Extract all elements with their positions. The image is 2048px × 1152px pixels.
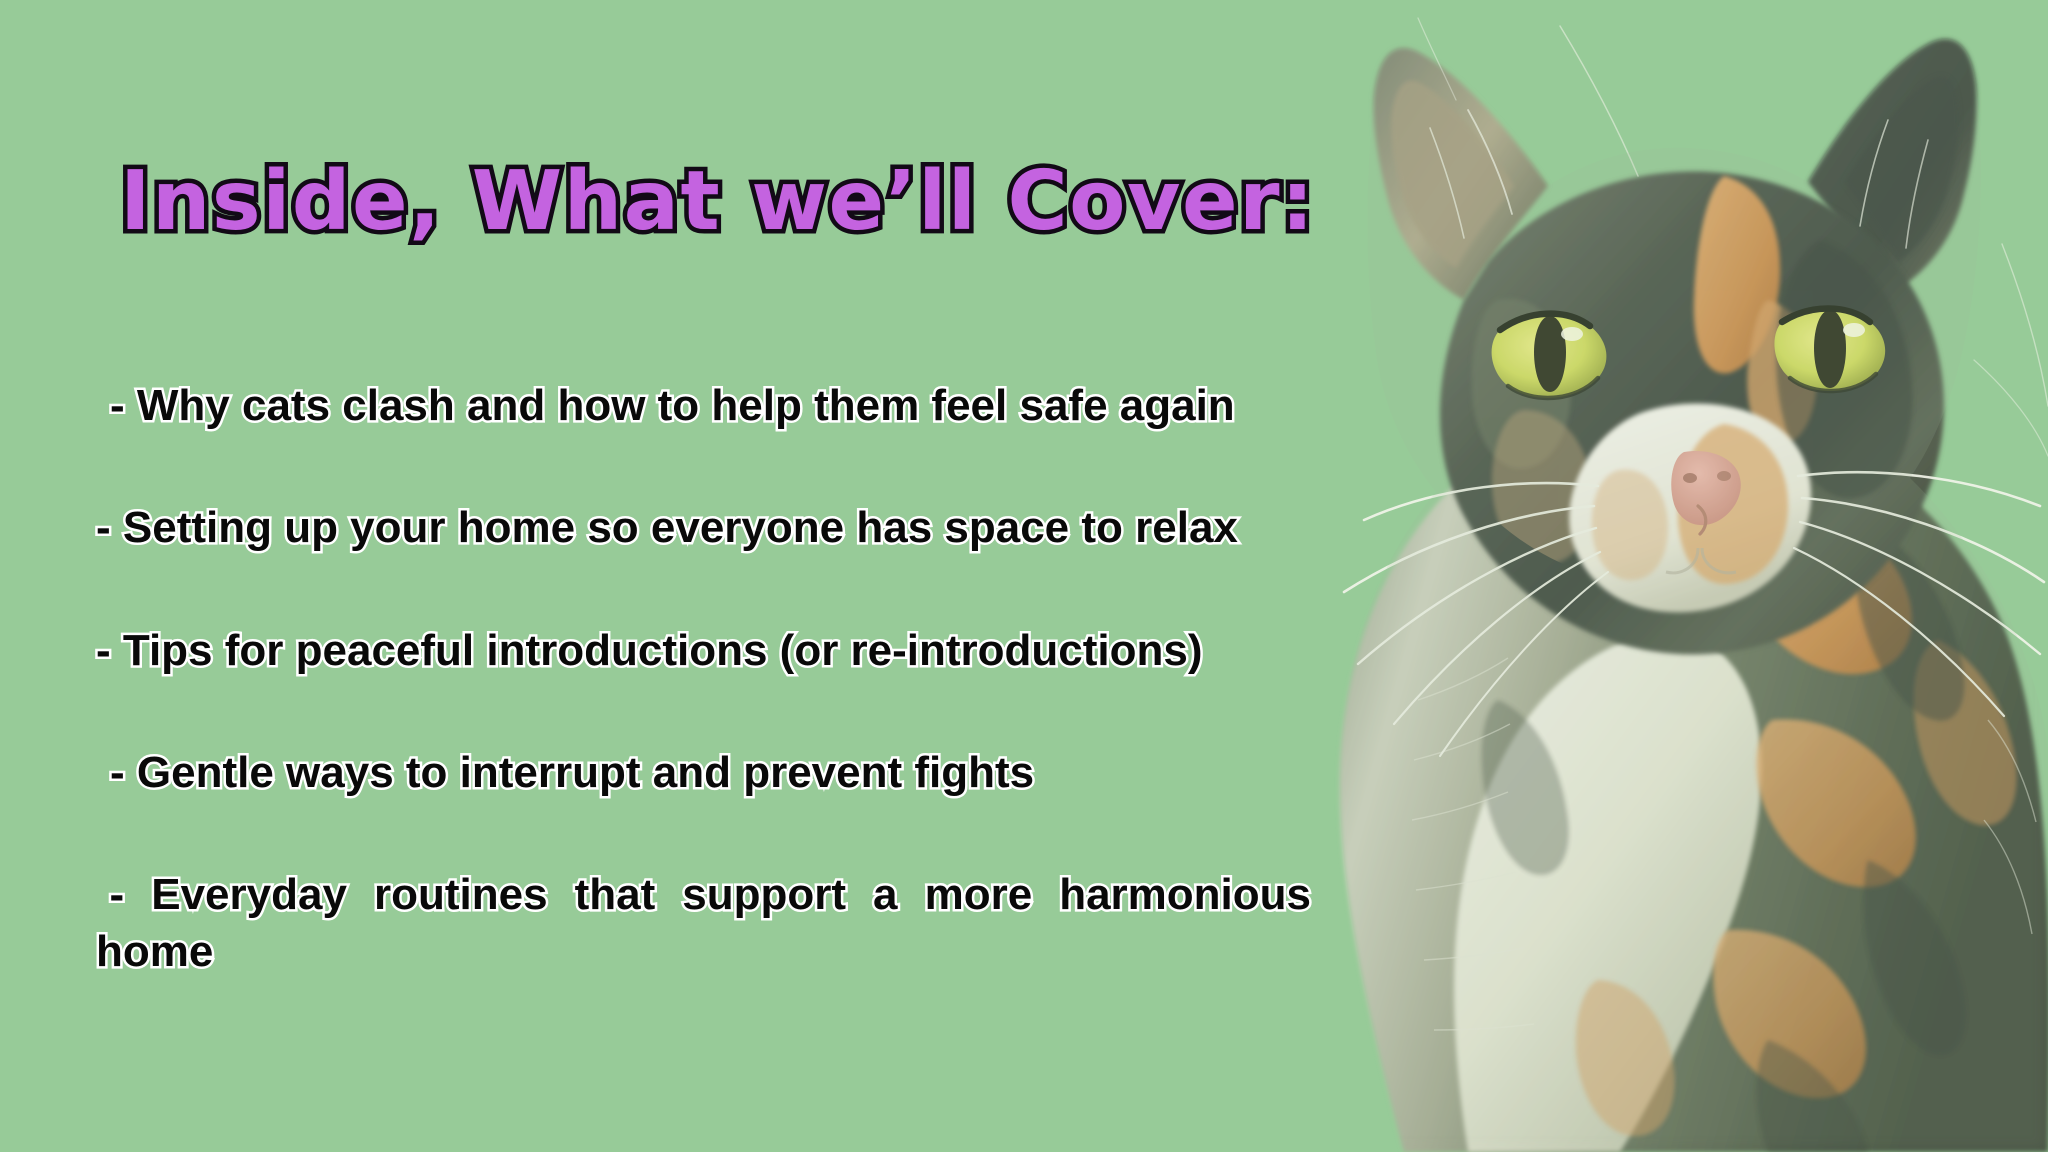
- list-item: - Gentle ways to interrupt and prevent f…: [96, 745, 1110, 801]
- list-item: - Everyday routines that support a more …: [96, 867, 1311, 980]
- cat-whiskers: [1344, 18, 2048, 756]
- cat-right-eye: [1774, 309, 1885, 392]
- list-item: - Why cats clash and how to help them fe…: [96, 378, 1326, 434]
- coverage-list: - Why cats clash and how to help them fe…: [96, 378, 1326, 980]
- cat-left-eye: [1492, 314, 1607, 398]
- list-item: - Setting up your home so everyone has s…: [96, 500, 1326, 556]
- list-item: - Tips for peaceful introductions (or re…: [96, 623, 1326, 679]
- slide-canvas: Inside, What we’ll Cover: - Why cats cla…: [0, 0, 2048, 1152]
- page-title: Inside, What we’ll Cover:: [120, 159, 1315, 245]
- cat-body: [1340, 400, 2048, 1152]
- cat-head: [1374, 39, 1977, 654]
